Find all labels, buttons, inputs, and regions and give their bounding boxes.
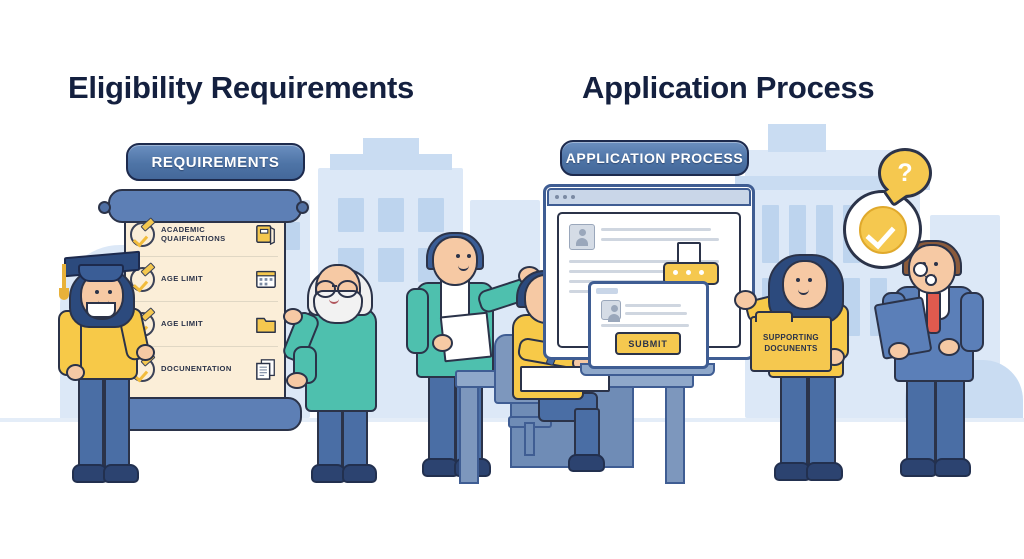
window-dot-icon (555, 195, 559, 199)
books-icon (254, 223, 278, 245)
illustration-canvas: Eligibility Requirements Application Pro… (0, 0, 1024, 559)
page-title-right: Application Process (582, 70, 874, 106)
laptop-screen: SUBMIT (588, 281, 709, 369)
thought-bubble-dot (913, 262, 928, 277)
thought-bubble-dot (925, 274, 937, 286)
list-item-label: DOCUNENTATION (161, 364, 248, 373)
documents-icon (254, 358, 278, 380)
calendar-icon (254, 268, 278, 290)
folder-label: SUPPORTINGDOCUNENTS (763, 333, 819, 355)
thought-bubble (843, 190, 922, 269)
supporting-documents-folder[interactable]: SUPPORTINGDOCUNENTS (750, 316, 832, 372)
avatar (569, 224, 595, 250)
list-item[interactable]: ACADEMIC QUAIFICATIONS (130, 212, 278, 256)
checkmark-icon (130, 222, 155, 247)
elderly-advisor (285, 250, 393, 492)
list-item-label: AGE LIMIT (161, 274, 248, 283)
window-dot-icon (571, 195, 575, 199)
folder-icon (254, 313, 278, 335)
desk-leg (665, 384, 685, 484)
scroll-knob-right (296, 201, 309, 214)
question-bubble: ? (878, 148, 932, 198)
pointing-hand-icon (734, 290, 757, 310)
badge-requirements[interactable]: REQUIREMENTS (126, 143, 305, 181)
folder-tab (755, 311, 793, 322)
scroll-knob-left (98, 201, 111, 214)
window-dot-icon (563, 195, 567, 199)
list-item-label: ACADEMIC QUAIFICATIONS (161, 225, 248, 244)
graduate-student (48, 252, 166, 492)
page-title-left: Eligibility Requirements (68, 70, 414, 106)
glasses-icon (315, 280, 336, 298)
laptop-application-form[interactable]: SUBMIT (588, 281, 703, 383)
checkmark-icon (859, 206, 907, 254)
avatar (601, 300, 621, 320)
glasses-icon (337, 280, 358, 298)
badge-application-process[interactable]: APPLICATION PROCESS (560, 140, 749, 176)
browser-title-bar (547, 188, 751, 206)
submit-button[interactable]: SUBMIT (615, 332, 681, 355)
desk-leg (459, 384, 479, 484)
list-item-label: AGE LIMIT (161, 319, 248, 328)
